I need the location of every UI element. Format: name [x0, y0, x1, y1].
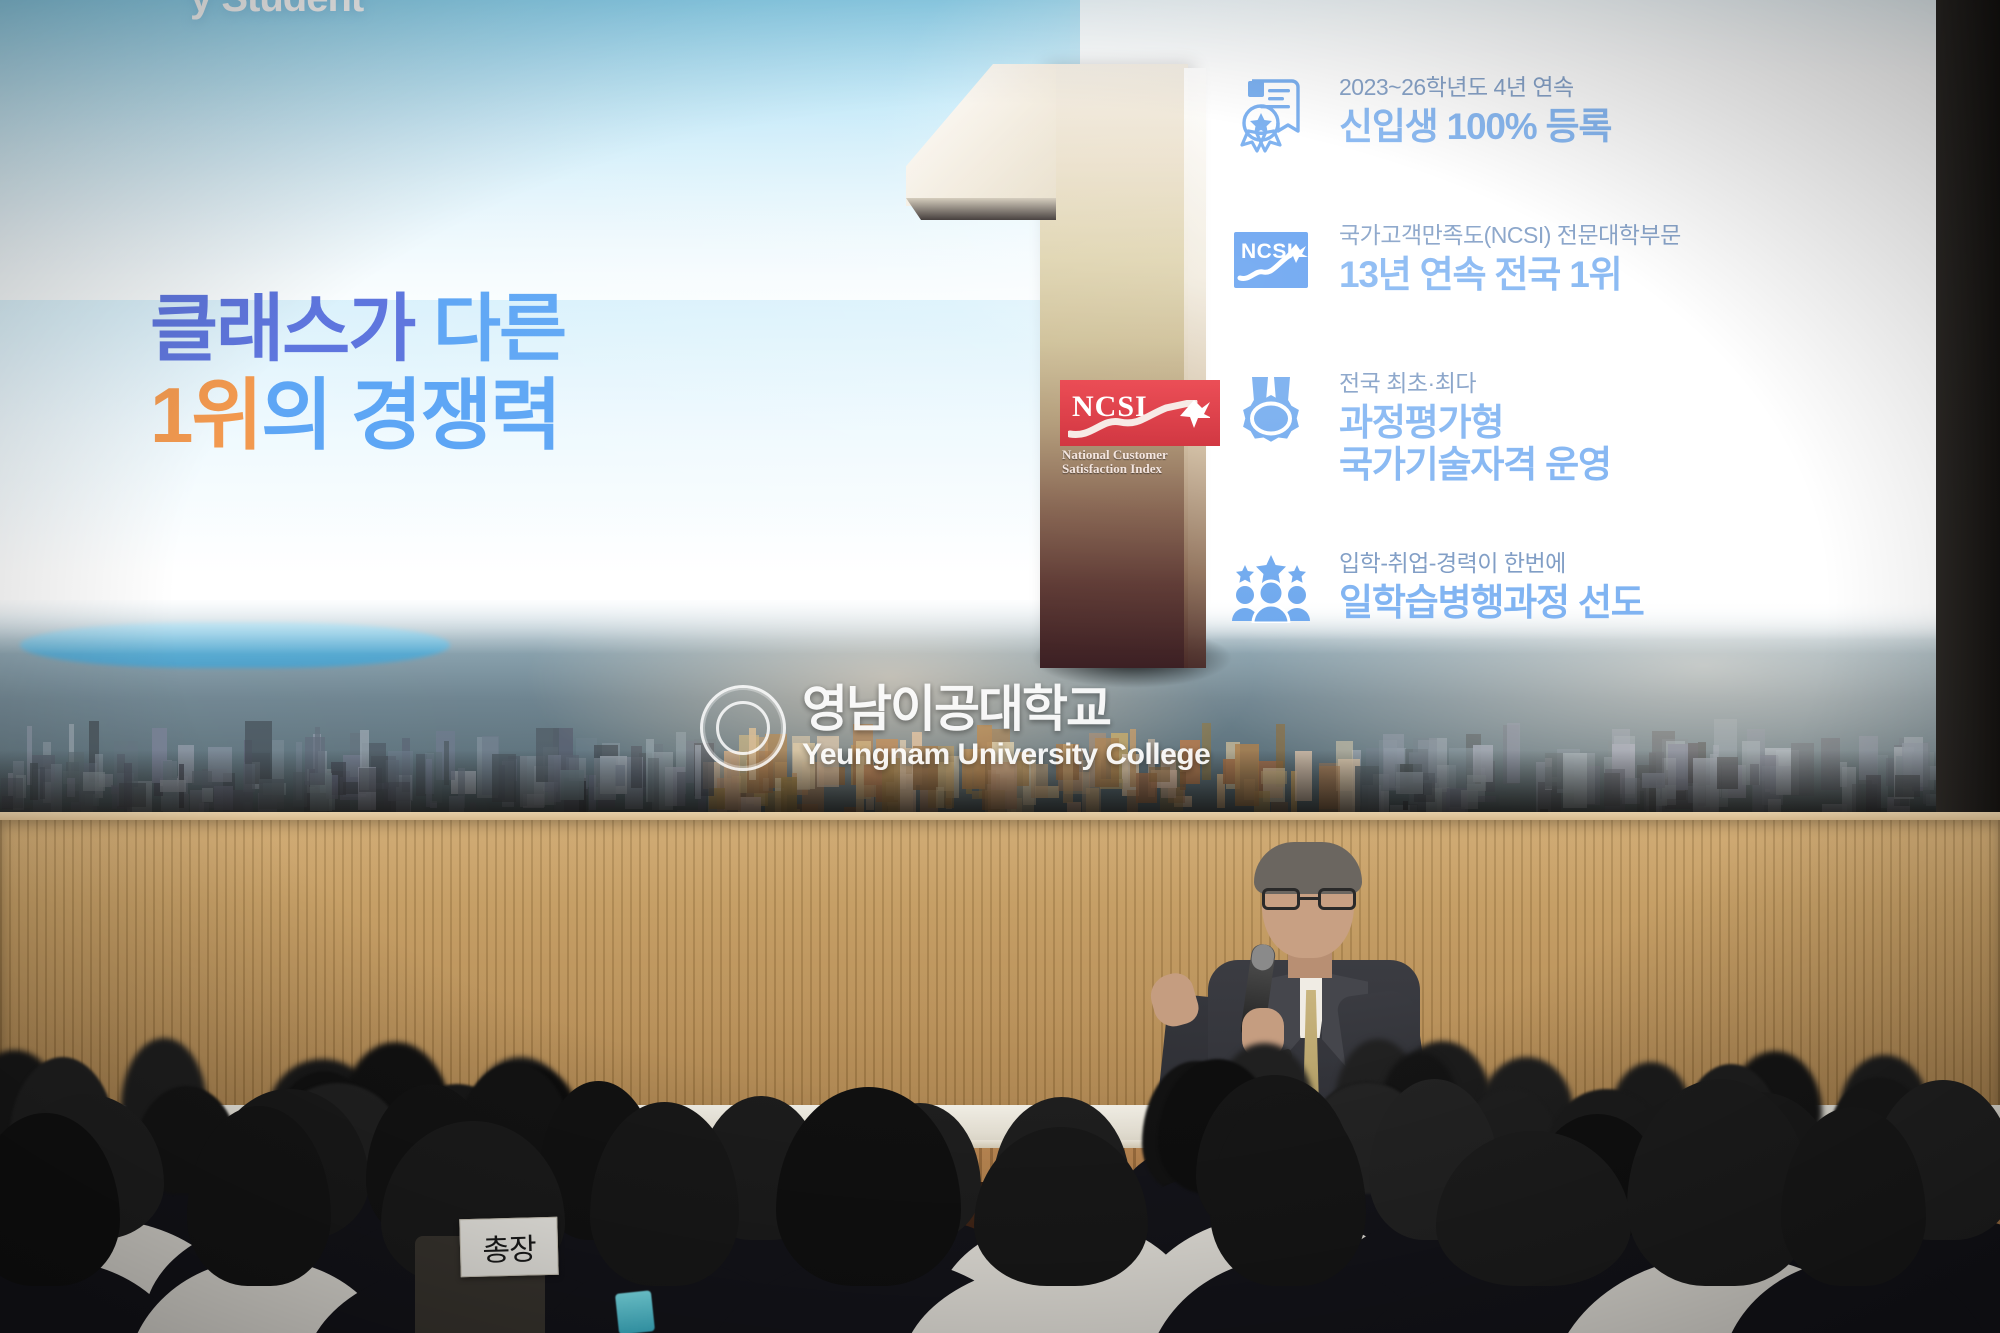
- slide-achievement-list: 2023~26학년도 4년 연속 신입생 100% 등록 NCSI: [1225, 66, 1845, 690]
- achievement-headline: 일학습병행과정 선도: [1339, 582, 1644, 624]
- people-with-stars-icon: [1225, 542, 1317, 634]
- headline-word-different: 다른: [433, 287, 565, 370]
- ncsi-logo-icon: NCSI: [1225, 214, 1317, 306]
- ncsi-mini-box: NCSI: [1234, 232, 1308, 288]
- ncsi-swoosh-icon: [1068, 400, 1210, 440]
- ncsi-subtitle-line2: Satisfaction Index: [1062, 462, 1220, 476]
- numeral-right-edge: [1184, 68, 1206, 668]
- achievement-text: 전국 최초·최다 과정평가형 국가기술자격 운영: [1339, 362, 1611, 486]
- ncsi-subtitle-line1: National Customer: [1062, 448, 1220, 462]
- headline-rank-one: 1위: [150, 371, 261, 459]
- audience-seating: [0, 1090, 2000, 1333]
- speaker-glasses-icon: [1262, 888, 1356, 910]
- achievement-headline: 신입생 100% 등록: [1339, 106, 1611, 148]
- numeral-flag: [906, 64, 1056, 206]
- achievement-text: 국가고객만족도(NCSI) 전문대학부문 13년 연속 전국 1위: [1339, 214, 1681, 296]
- achievement-subtitle: 전국 최초·최다: [1339, 364, 1611, 398]
- achievement-headline: 13년 연속 전국 1위: [1339, 254, 1681, 296]
- phone-screen-glow: [615, 1290, 655, 1333]
- nameplate-president: 총장: [459, 1217, 558, 1278]
- medal-icon: [1225, 362, 1317, 454]
- university-logo-lockup: 영남이공대학교 Yeungnam University College: [700, 680, 1360, 776]
- headline-competitiveness: 의 경쟁력: [261, 371, 560, 459]
- university-seal-icon: [700, 685, 786, 771]
- screen-right-dark-edge: [1936, 0, 2000, 820]
- projection-screen: NCSI National Customer Satisfaction Inde…: [0, 0, 1936, 820]
- headline-line-2: 1위의 경쟁력: [150, 374, 810, 457]
- ncsi-subtitle: National Customer Satisfaction Index: [1062, 448, 1220, 476]
- achievement-headline: 과정평가형: [1339, 402, 1611, 444]
- headline-line-1: 클래스가 다른: [150, 290, 810, 368]
- achievement-item: 2023~26학년도 4년 연속 신입생 100% 등록: [1225, 66, 1845, 158]
- achievement-item: 입학-취업-경력이 한번에 일학습병행과정 선도: [1225, 542, 1845, 634]
- glasses-bridge: [1300, 897, 1318, 900]
- achievement-text: 입학-취업-경력이 한번에 일학습병행과정 선도: [1339, 542, 1644, 624]
- achievement-headline-2: 국가기술자격 운영: [1339, 444, 1611, 486]
- achievement-subtitle: 입학-취업-경력이 한번에: [1339, 544, 1644, 578]
- hero-numeral-one: NCSI National Customer Satisfaction Inde…: [760, 28, 1160, 668]
- glasses-right-lens: [1318, 888, 1356, 910]
- speaker-hair: [1254, 842, 1362, 894]
- glasses-left-lens: [1262, 888, 1300, 910]
- achievement-text: 2023~26학년도 4년 연속 신입생 100% 등록: [1339, 66, 1611, 148]
- university-name: 영남이공대학교 Yeungnam University College: [802, 684, 1210, 772]
- numeral-stem: [1040, 64, 1188, 668]
- numeral-serif: [906, 198, 1056, 220]
- achievement-item: 전국 최초·최다 과정평가형 국가기술자격 운영: [1225, 362, 1845, 486]
- presentation-scene: NCSI National Customer Satisfaction Inde…: [0, 0, 2000, 1333]
- slide-headline: 클래스가 다른 1위의 경쟁력: [150, 290, 810, 457]
- ncsi-red-box: NCSI: [1060, 380, 1220, 446]
- clipped-logotype: y Student: [190, 0, 363, 21]
- ncsi-plaque: NCSI National Customer Satisfaction Inde…: [1060, 380, 1220, 480]
- university-name-english: Yeungnam University College: [802, 738, 1210, 772]
- headline-word-class: 클래스가: [150, 287, 414, 370]
- achievement-item: NCSI 국가고객만족도(NCSI) 전문대학부문 13년 연속 전국 1위: [1225, 214, 1845, 306]
- achievement-subtitle: 2023~26학년도 4년 연속: [1339, 68, 1611, 102]
- certificate-ribbon-icon: [1225, 66, 1317, 158]
- university-name-korean: 영남이공대학교: [802, 684, 1210, 734]
- achievement-subtitle: 국가고객만족도(NCSI) 전문대학부문: [1339, 216, 1681, 250]
